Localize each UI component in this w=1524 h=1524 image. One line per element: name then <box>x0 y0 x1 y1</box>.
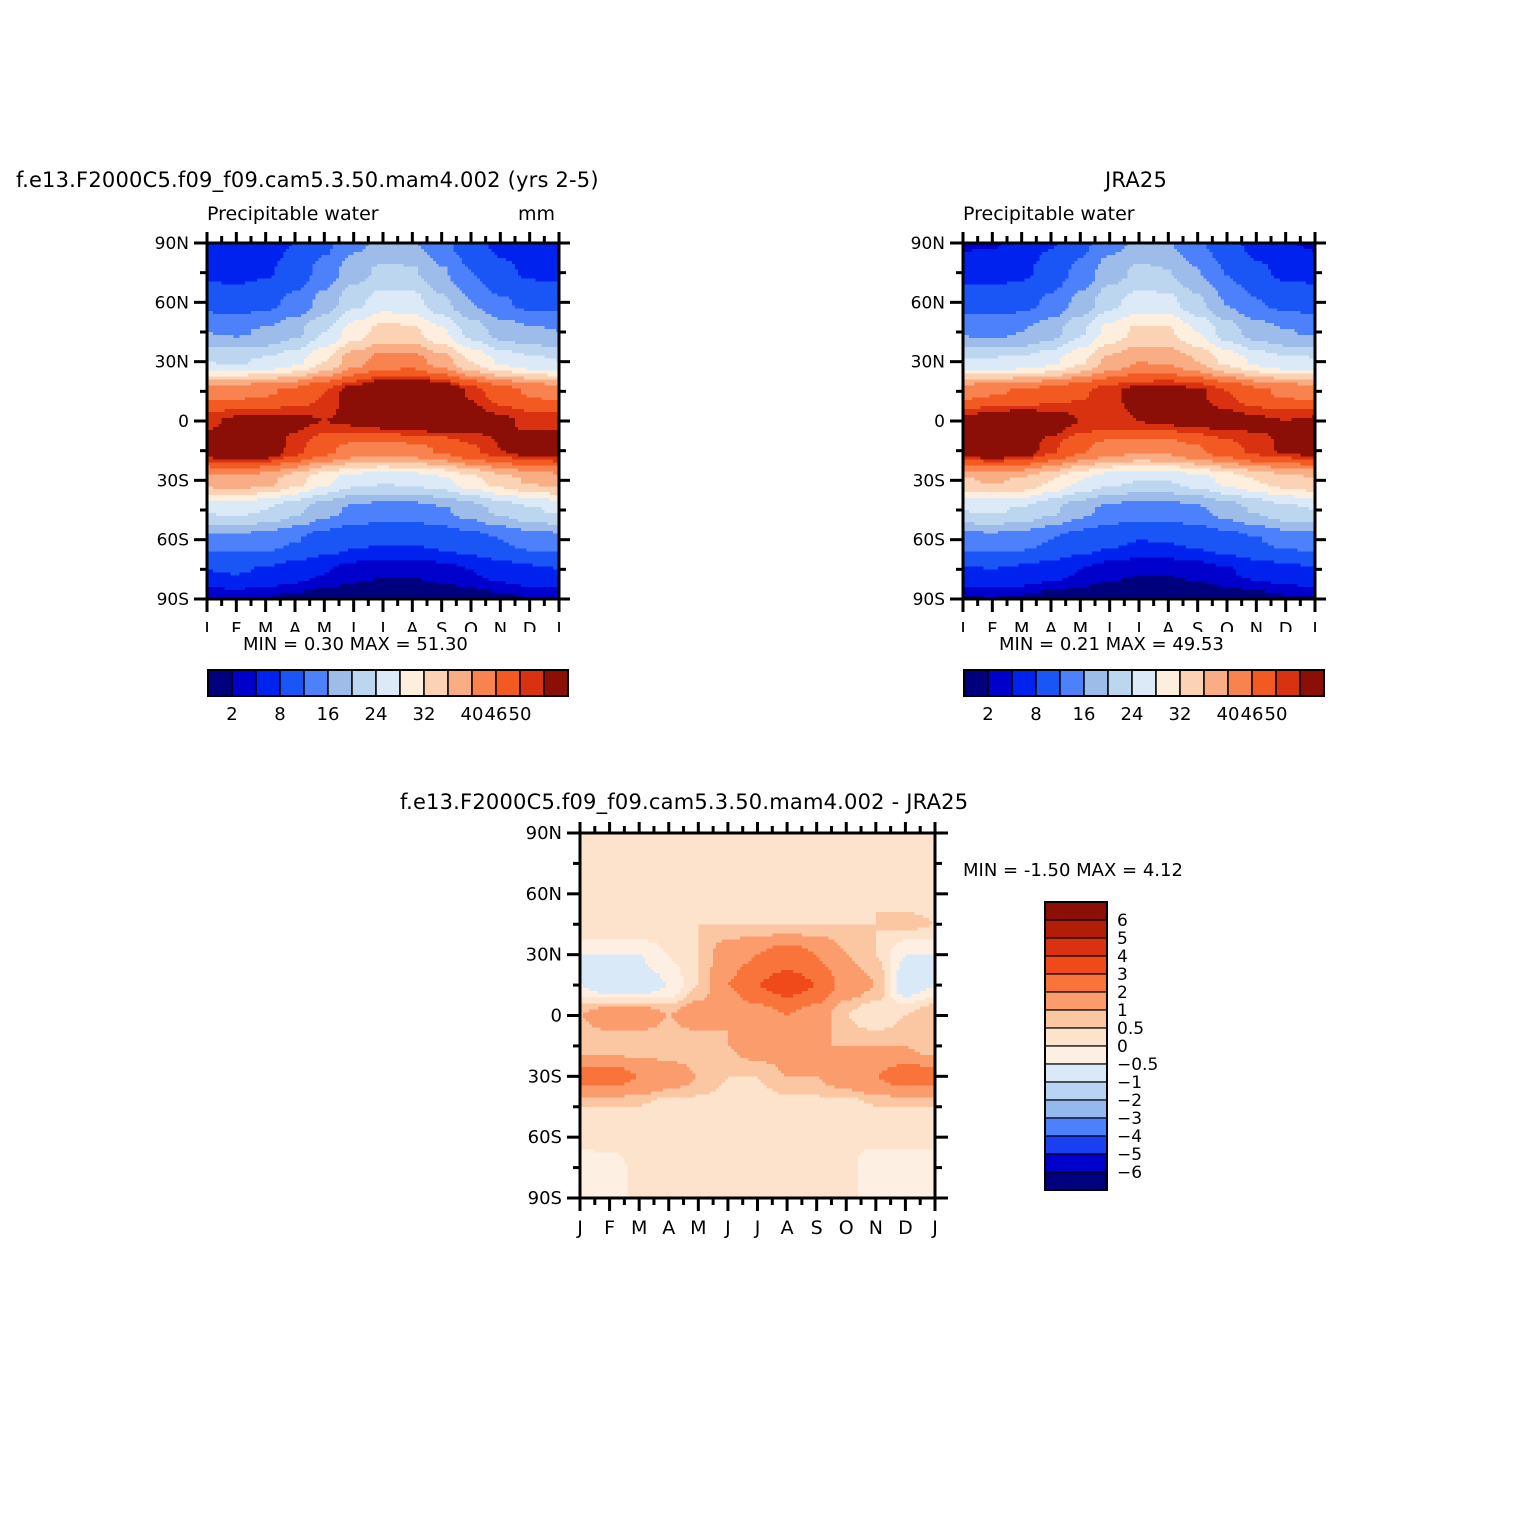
model-colorbar: 28162432404650 <box>200 668 580 726</box>
model-panel-subtitle: Precipitable water <box>207 203 379 225</box>
model-panel-title: f.e13.F2000C5.f09_f09.cam5.3.50.mam4.002… <box>16 168 599 192</box>
figure-root: f.e13.F2000C5.f09_f09.cam5.3.50.mam4.002… <box>0 0 1524 1524</box>
diff-colorbar: 6543210.50−0.5−1−2−3−4−5−6 <box>1035 898 1185 1198</box>
obs-panel-title: JRA25 <box>1105 168 1167 192</box>
obs-minmax-text: MIN = 0.21 MAX = 49.53 <box>999 634 1224 655</box>
diff-contour-plot: 90N60N30N030S60S90SJFMAMJJASONDJ <box>495 822 965 1252</box>
obs-contour-plot: 90N60N30N030S60S90SJFMAMJJASONDJ <box>906 232 1326 632</box>
model-units-label: mm <box>518 203 555 225</box>
model-contour-plot: 90N60N30N030S60S90SJFMAMJJASONDJ <box>150 232 570 632</box>
model-minmax-text: MIN = 0.30 MAX = 51.30 <box>243 634 468 655</box>
obs-colorbar: 28162432404650 <box>956 668 1336 726</box>
obs-panel-subtitle: Precipitable water <box>963 203 1135 225</box>
diff-panel-title: f.e13.F2000C5.f09_f09.cam5.3.50.mam4.002… <box>400 790 968 814</box>
diff-minmax-text: MIN = -1.50 MAX = 4.12 <box>963 860 1183 881</box>
